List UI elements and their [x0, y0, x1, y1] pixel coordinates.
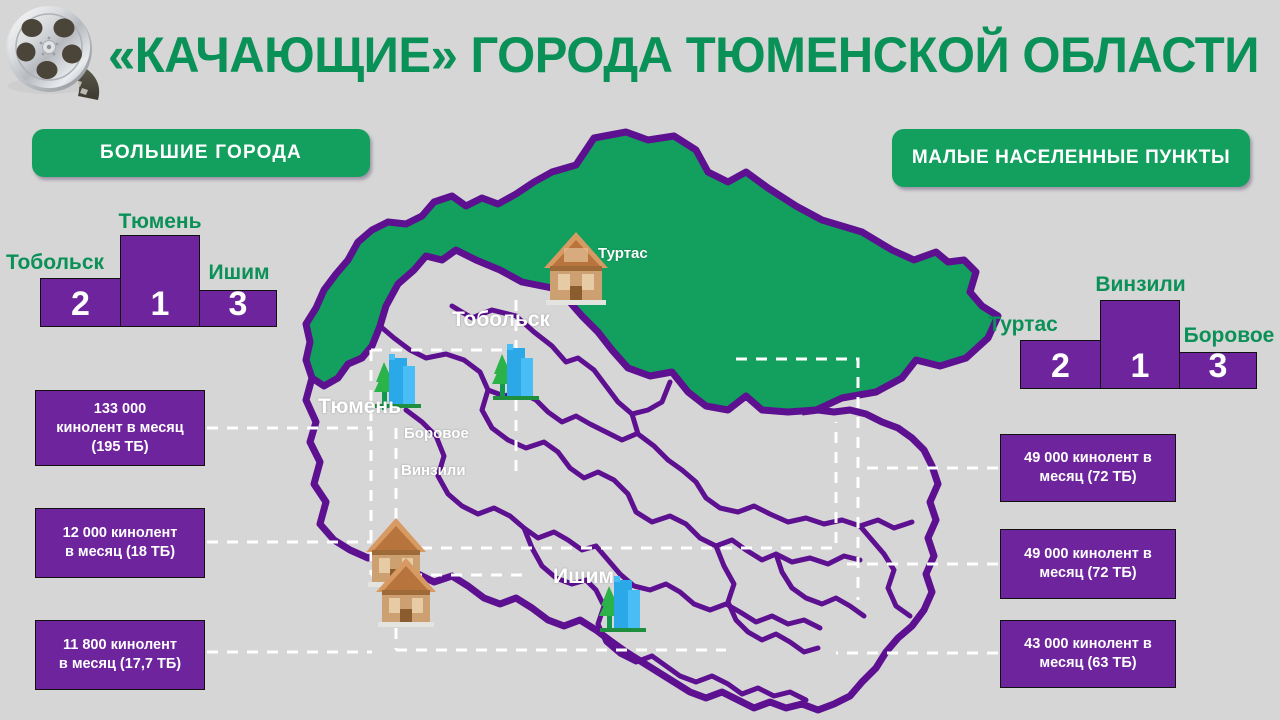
podium-block-small-rank-3[interactable]: 3	[1179, 352, 1257, 389]
stat-line-1: 12 000 кинолент	[63, 524, 178, 543]
stat-line-2: в месяц (18 ТБ)	[63, 543, 178, 562]
stat-box-turtas[interactable]: 49 000 кинолент в месяц (72 ТБ)	[1000, 434, 1176, 502]
stat-line-1: 11 800 кинолент	[59, 636, 181, 655]
podium-block-rank-3[interactable]: 3	[199, 290, 277, 327]
podium-label-tobolsk: Тобольск	[0, 251, 110, 275]
stat-box-tyumen[interactable]: 133 000 кинолент в месяц (195 ТБ)	[35, 390, 205, 466]
stat-line-1: 43 000 кинолент в	[1024, 635, 1152, 654]
stat-line-2: месяц (63 ТБ)	[1024, 654, 1152, 673]
stat-box-tobolsk[interactable]: 12 000 кинолент в месяц (18 ТБ)	[35, 508, 205, 578]
podium-label-vinzili: Винзили	[1088, 273, 1193, 297]
stat-line-2: месяц (72 ТБ)	[1024, 564, 1152, 583]
stat-box-ishim[interactable]: 11 800 кинолент в месяц (17,7 ТБ)	[35, 620, 205, 690]
stat-line-2: в месяц (17,7 ТБ)	[59, 655, 181, 674]
podium-block-rank-2[interactable]: 2	[40, 278, 121, 327]
podium-label-turtas: Туртас	[980, 313, 1066, 337]
stat-line-2: месяц (72 ТБ)	[1024, 468, 1152, 487]
podium-small-settlements: Туртас Винзили Боровое 2 1 3	[960, 265, 1250, 390]
podium-block-small-rank-2[interactable]: 2	[1020, 340, 1101, 389]
podium-big-cities: Тобольск Тюмень Ишим 2 1 3	[0, 205, 290, 330]
stat-line-2: кинолент в месяц	[56, 419, 183, 438]
stat-line-3: (195 ТБ)	[56, 438, 183, 457]
podium-label-borovoe: Боровое	[1176, 324, 1280, 348]
stat-line-1: 49 000 кинолент в	[1024, 449, 1152, 468]
stat-box-borovoe[interactable]: 43 000 кинолент в месяц (63 ТБ)	[1000, 620, 1176, 688]
podium-label-ishim: Ишим	[200, 261, 278, 285]
stat-box-vinzili[interactable]: 49 000 кинолент в месяц (72 ТБ)	[1000, 529, 1176, 599]
podium-block-small-rank-1[interactable]: 1	[1100, 300, 1180, 389]
podium-block-rank-1[interactable]: 1	[120, 235, 200, 327]
stat-line-1: 49 000 кинолент в	[1024, 545, 1152, 564]
stat-line-1: 133 000	[56, 400, 183, 419]
infographic-canvas: «КАЧАЮЩИЕ» ГОРОДА ТЮМЕНСКОЙ ОБЛАСТИ БОЛЬ…	[0, 0, 1280, 720]
podium-label-tyumen: Тюмень	[110, 210, 210, 234]
